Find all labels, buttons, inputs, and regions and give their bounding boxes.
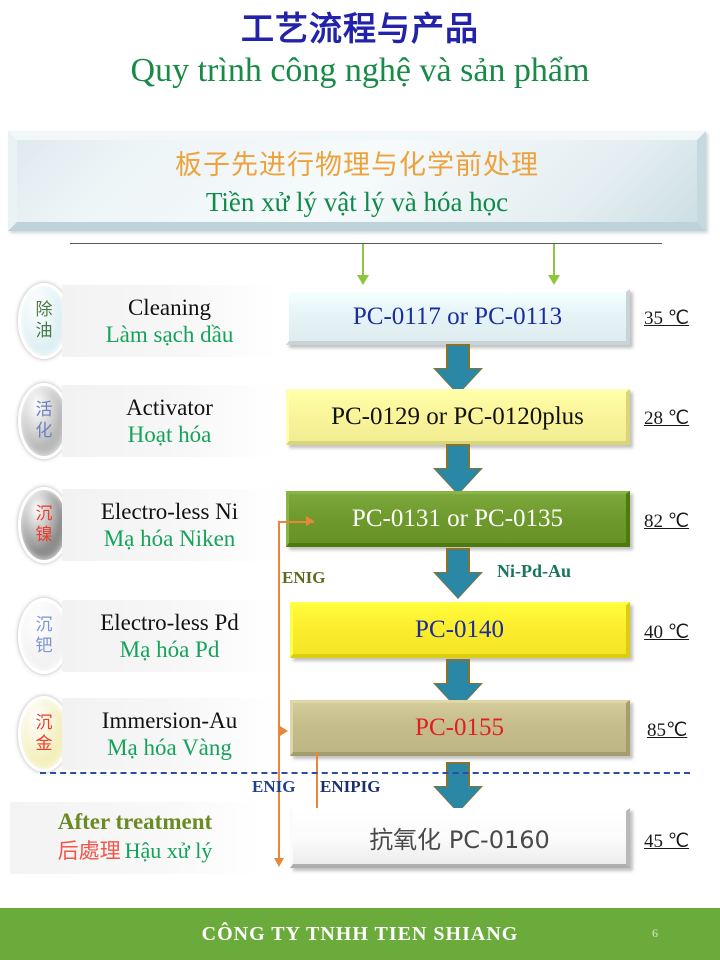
header-chinese: 板子先进行物理与化学前处理 <box>17 140 697 186</box>
chemical-box-cleaning: PC-0117 or PC-0113 <box>286 289 630 345</box>
badge-char-top: 沉 <box>36 713 53 734</box>
badge-char-top: 沉 <box>36 615 53 636</box>
badge-char-bottom: 油 <box>36 321 53 342</box>
label-immersion-au: Immersion-Au Mạ hóa Vàng <box>62 698 277 770</box>
pretreatment-header-box: 板子先进行物理与化学前处理 Tiền xử lý vật lý và hóa h… <box>8 131 706 231</box>
chemical-box-immersion-au: PC-0155 <box>290 700 630 756</box>
label-vi: Mạ hóa Pd <box>120 636 220 664</box>
label-electroless-ni: Electro-less Ni Mạ hóa Niken <box>62 489 277 561</box>
enipig-branch-vertical <box>316 752 318 810</box>
after-treatment-label: After treatment 后處理 Hậu xử lý <box>10 802 260 874</box>
enig-branch-vertical <box>278 521 280 861</box>
badge-char-top: 活 <box>36 400 53 421</box>
process-row: 沉钯 Electro-less Pd Mạ hóa Pd PC-0140 40 … <box>0 598 720 674</box>
after-treatment-line2: 后處理 Hậu xử lý <box>58 836 213 869</box>
green-feed-arrow-left <box>362 244 364 276</box>
tag-enipig-lower: ENIPIG <box>320 777 380 797</box>
badge-char-bottom: 镍 <box>36 525 53 546</box>
badge-char-bottom: 金 <box>36 734 53 755</box>
title-vietnamese: Quy trình công nghệ và sản phẩm <box>0 48 720 94</box>
badge-char-bottom: 钯 <box>36 636 53 657</box>
temperature-electroless-pd: 40 ℃ <box>644 621 689 644</box>
page-number: 6 <box>652 926 658 941</box>
tag-ni-pd-au: Ni-Pd-Au <box>497 561 571 582</box>
after-treatment-vi: Hậu xử lý <box>125 838 213 863</box>
chemical-box-activator: PC-0129 or PC-0120plus <box>286 389 630 445</box>
process-row: 活化 Activator Hoạt hóa PC-0129 or PC-0120… <box>0 383 720 459</box>
enipig-entry-arrowhead <box>280 726 288 736</box>
label-en: Electro-less Pd <box>100 609 239 636</box>
process-row: 沉镍 Electro-less Ni Mạ hóa Niken PC-0131 … <box>0 487 720 563</box>
badge-char-bottom: 化 <box>36 421 53 442</box>
chemical-box-electroless-pd: PC-0140 <box>290 602 630 658</box>
process-row: 沉金 Immersion-Au Mạ hóa Vàng PC-0155 85℃ <box>0 696 720 772</box>
label-en: Immersion-Au <box>102 707 237 734</box>
label-vi: Mạ hóa Vàng <box>107 734 232 762</box>
temperature-cleaning: 35 ℃ <box>644 307 689 330</box>
temperature-after-treatment: 45 ℃ <box>644 830 689 853</box>
chemical-box-electroless-ni: PC-0131 or PC-0135 <box>286 491 630 547</box>
badge-char-top: 沉 <box>36 504 53 525</box>
tag-enig-upper: ENIG <box>282 568 325 588</box>
process-row: 除油 Cleaning Làm sạch dầu PC-0117 or PC-0… <box>0 283 720 359</box>
title-chinese: 工艺流程与产品 <box>0 8 720 50</box>
badge-char-top: 除 <box>36 300 53 321</box>
label-en: Electro-less Ni <box>101 498 238 525</box>
after-treatment-en: After treatment <box>58 808 212 836</box>
label-cleaning: Cleaning Làm sạch dầu <box>62 285 277 357</box>
enig-enipig-divider <box>40 772 690 774</box>
temperature-activator: 28 ℃ <box>644 407 689 430</box>
flow-arrow-3 <box>435 548 481 598</box>
header-vietnamese: Tiền xử lý vật lý và hóa học <box>17 186 697 218</box>
label-en: Activator <box>126 394 213 421</box>
temperature-electroless-ni: 82 ℃ <box>644 510 689 533</box>
slide-title: 工艺流程与产品 Quy trình công nghệ và sản phẩm <box>0 8 720 94</box>
enig-entry-arrowhead <box>306 516 314 526</box>
flow-arrow-5 <box>435 762 481 812</box>
label-vi: Hoạt hóa <box>128 421 212 449</box>
enig-branch-arrowhead <box>274 858 284 867</box>
tag-enig-lower: ENIG <box>252 777 295 797</box>
chemical-box-after-treatment: 抗氧化 PC-0160 <box>290 808 630 868</box>
footer-bar: CÔNG TY TNHH TIEN SHIANG 6 <box>0 908 720 960</box>
after-treatment-cn: 后處理 <box>58 839 121 863</box>
temperature-immersion-au: 85℃ <box>647 719 687 742</box>
footer-company-name: CÔNG TY TNHH TIEN SHIANG <box>0 908 720 960</box>
green-feed-arrow-right <box>553 244 555 276</box>
label-activator: Activator Hoạt hóa <box>62 385 277 457</box>
header-divider-line <box>70 243 662 244</box>
label-vi: Làm sạch dầu <box>106 321 234 349</box>
label-electroless-pd: Electro-less Pd Mạ hóa Pd <box>62 600 277 672</box>
label-vi: Mạ hóa Niken <box>104 525 236 553</box>
label-en: Cleaning <box>128 294 211 321</box>
